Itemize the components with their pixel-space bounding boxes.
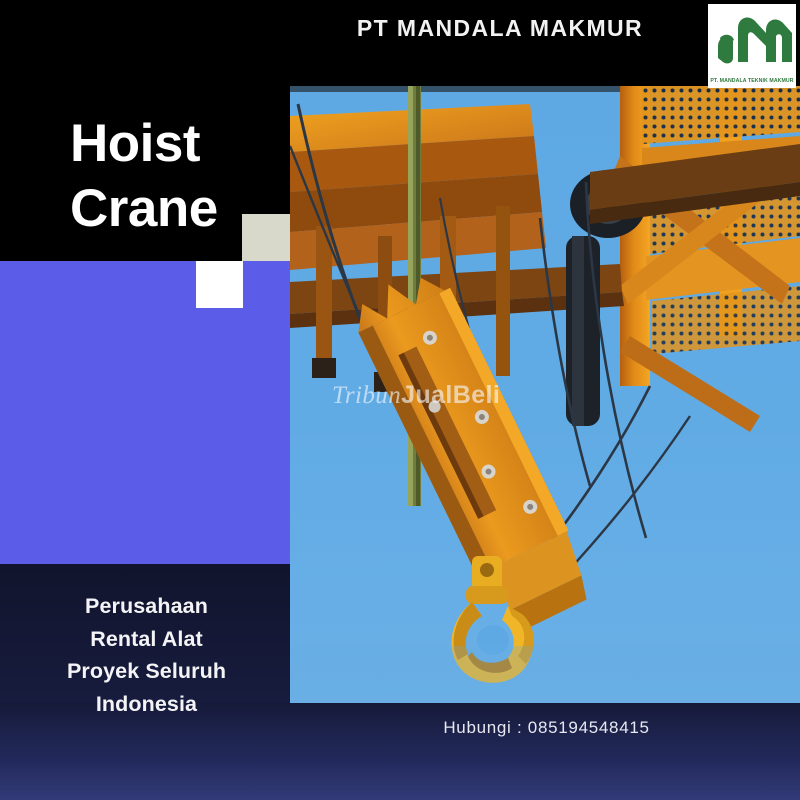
company-name: PT MANDALA MAKMUR [300,16,700,41]
letter-m-logo-icon [708,8,796,70]
company-logo: PT. MANDALA TEKNIK MAKMUR [708,4,796,88]
page-title: Hoist Crane [70,112,290,241]
purple-accent-panel [0,261,293,564]
tagline-line-4: Indonesia [0,688,293,721]
white-accent-square [196,261,243,308]
logo-caption: PT. MANDALA TEKNIK MAKMUR [708,78,796,84]
hoist-crane-photo: TribunJualBeli [290,86,800,703]
title-line-1: Hoist [70,112,290,177]
title-line-2: Crane [70,177,290,242]
tagline-line-1: Perusahaan [0,590,293,623]
tagline-line-3: Proyek Seluruh [0,655,293,688]
tagline: Perusahaan Rental Alat Proyek Seluruh In… [0,590,293,721]
contact-phone: Hubungi : 085194548415 [293,718,800,738]
tagline-line-2: Rental Alat [0,623,293,656]
poster-canvas: TribunJualBeli PT MANDALA MAKMUR PT. MAN… [0,0,800,800]
